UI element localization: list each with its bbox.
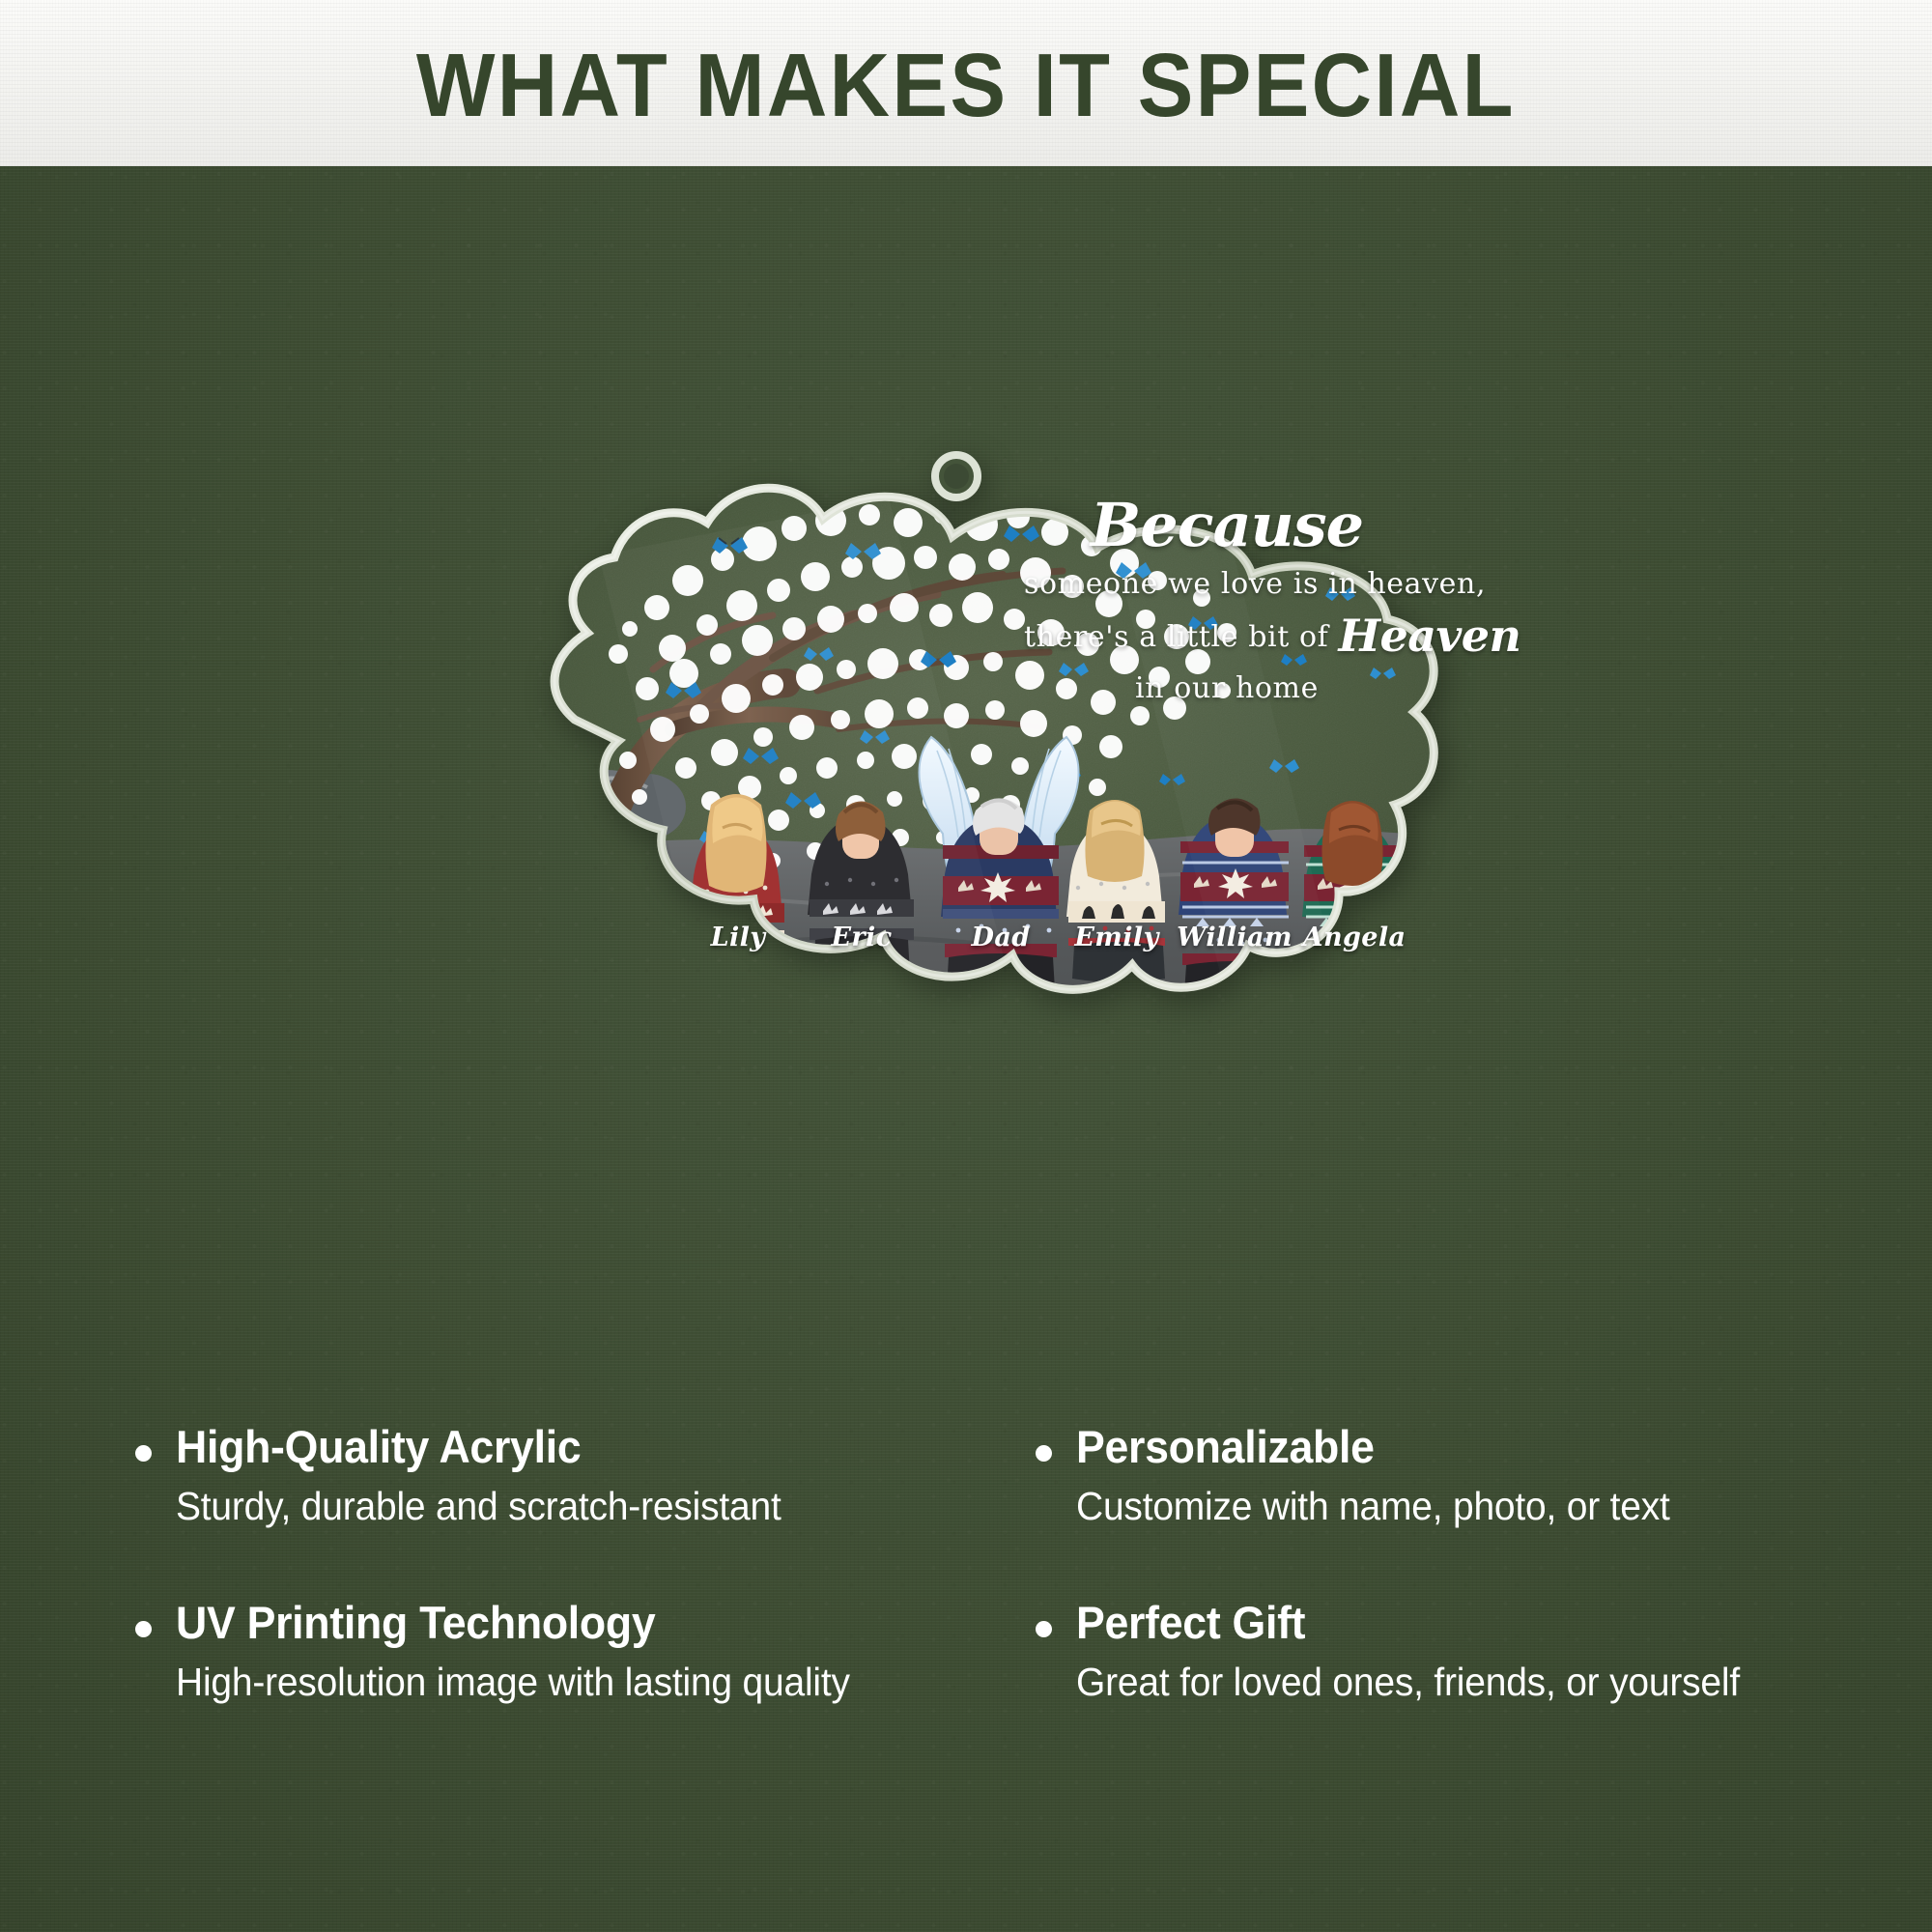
quote-line-3b: Heaven	[1339, 610, 1521, 662]
person-name-eric: Eric	[831, 923, 892, 952]
person-name-angela: Angela	[1303, 923, 1406, 952]
person-name-dad: Dad	[972, 923, 1031, 952]
features-list: High-Quality Acrylic Sturdy, durable and…	[0, 1406, 1932, 1821]
promo-page: WHAT MAKES IT SPECIAL	[0, 0, 1932, 1932]
hanging-hole	[935, 455, 978, 497]
bullet-icon	[1036, 1621, 1052, 1637]
quote-line-2: someone we love is in heaven,	[1024, 564, 1430, 606]
person-name-lily: Lily	[711, 923, 766, 952]
person-name-william: William	[1177, 923, 1293, 952]
feature-title: Personalizable	[1076, 1420, 1375, 1473]
feature-title: Perfect Gift	[1076, 1596, 1305, 1649]
quote-line-3: there's a little bit of Heaven	[1024, 605, 1430, 668]
ornament-quote: Because someone we love is in heaven, th…	[1024, 497, 1430, 709]
feature-title: UV Printing Technology	[176, 1596, 655, 1649]
feature-description: Customize with name, photo, or text	[1076, 1484, 1670, 1529]
feature-description: Sturdy, durable and scratch-resistant	[176, 1484, 781, 1529]
header-banner: WHAT MAKES IT SPECIAL	[0, 0, 1932, 166]
quote-line-3a: there's a little bit of	[1024, 620, 1328, 654]
page-title: WHAT MAKES IT SPECIAL	[416, 41, 1516, 130]
bullet-icon	[1036, 1445, 1052, 1462]
feature-description: Great for loved ones, friends, or yourse…	[1076, 1660, 1740, 1705]
quote-line-1: Because	[1024, 497, 1430, 554]
product-ornament: Because someone we love is in heaven, th…	[483, 401, 1459, 1038]
feature-title: High-Quality Acrylic	[176, 1420, 581, 1473]
quote-line-4: in our home	[1024, 668, 1430, 710]
feature-description: High-resolution image with lasting quali…	[176, 1660, 850, 1705]
person-name-emily: Emily	[1074, 923, 1158, 952]
bullet-icon	[135, 1445, 152, 1462]
bullet-icon	[135, 1621, 152, 1637]
